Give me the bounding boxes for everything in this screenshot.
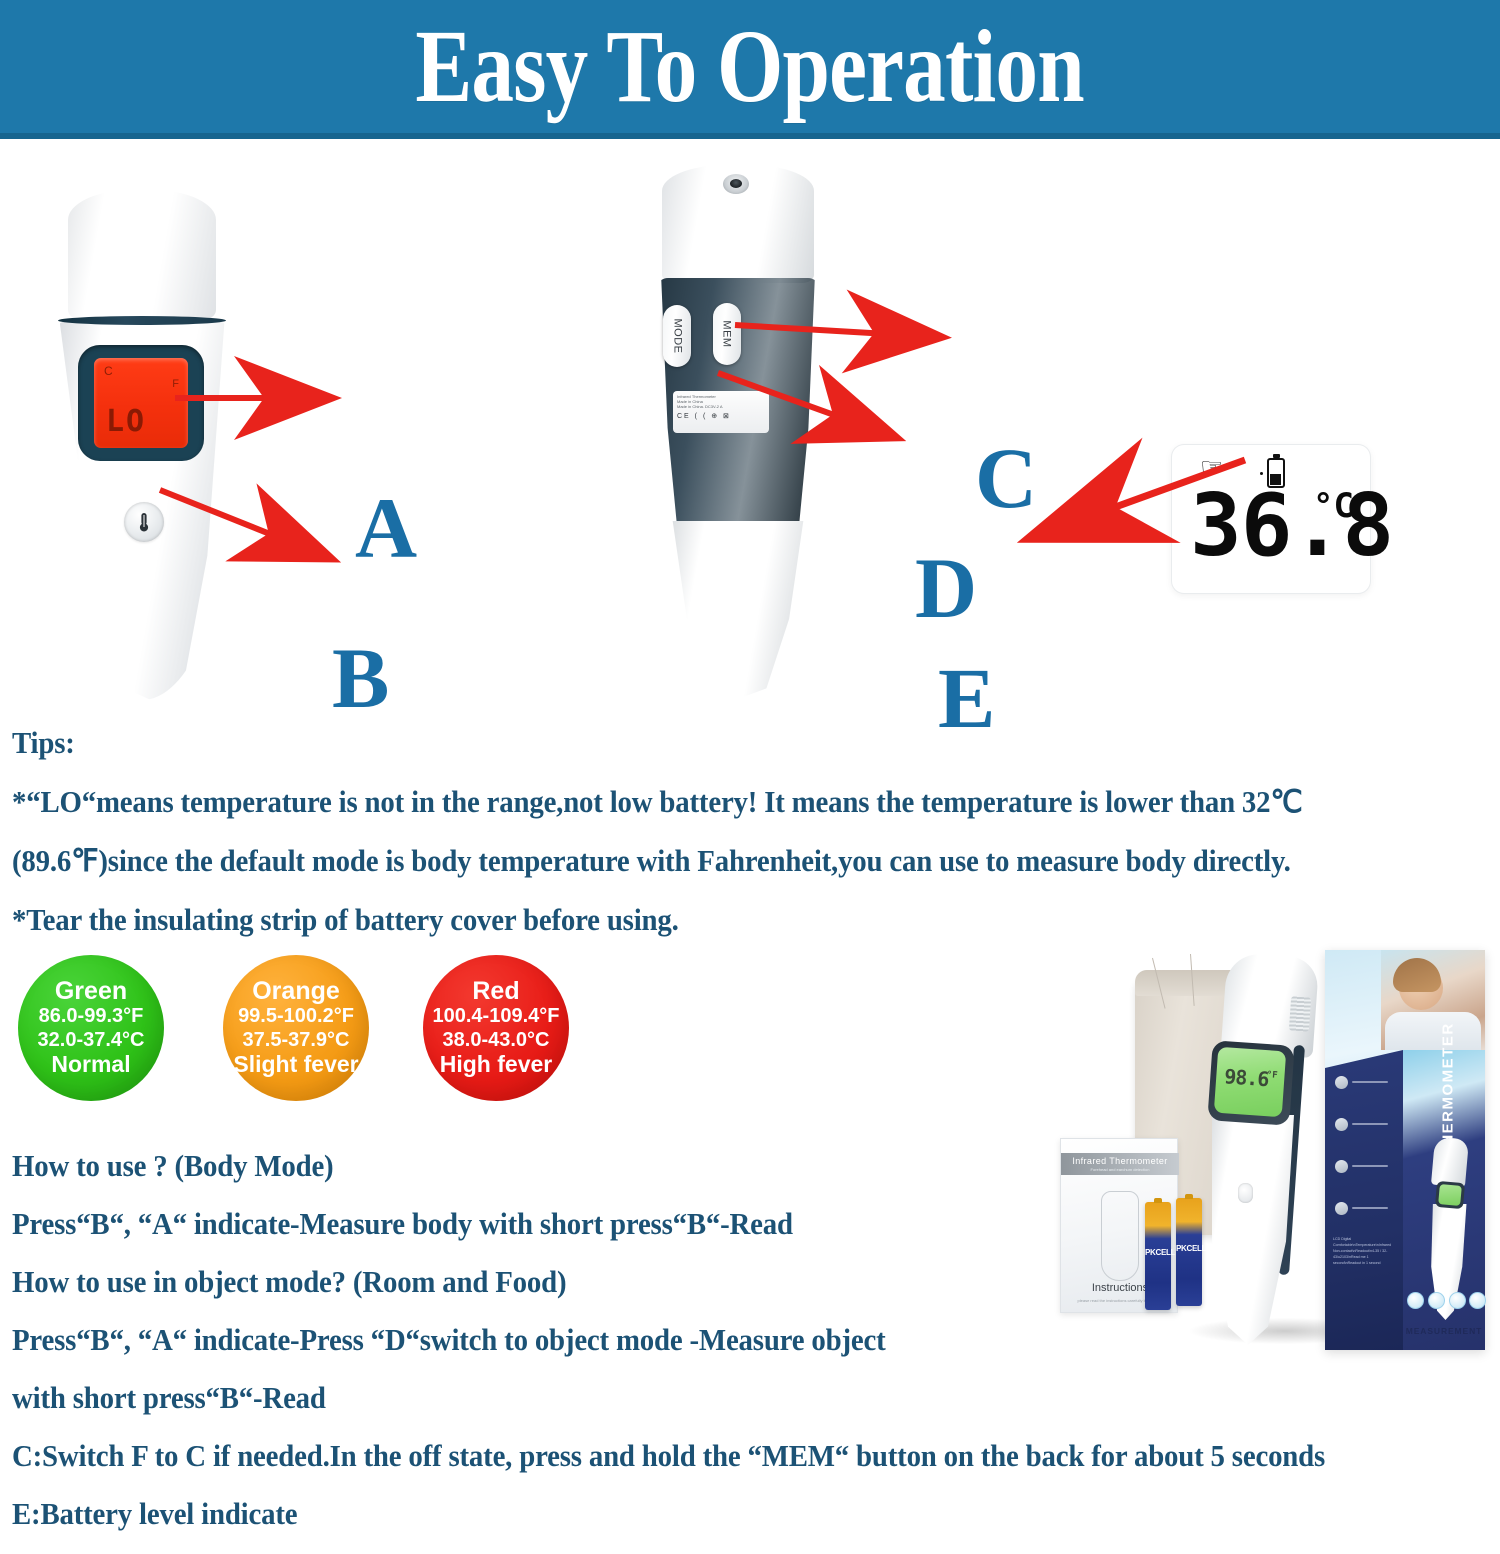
tips-heading: Tips:	[12, 725, 1388, 761]
box-side-panel: LCD Digital Comfortable\nTemperature\nIn…	[1325, 1050, 1403, 1350]
range-green-name: Green	[55, 978, 127, 1004]
range-circle-green: Green 86.0-99.3°F 32.0-37.4°C Normal	[18, 955, 164, 1101]
box-feature-dot-2	[1335, 1118, 1348, 1131]
arrow-to-d	[718, 373, 895, 437]
photo-lcd-unit: °F	[1266, 1070, 1278, 1081]
retail-box: LCD Digital Comfortable\nTemperature\nIn…	[1325, 950, 1485, 1350]
box-feature-line-3	[1352, 1165, 1388, 1167]
arrow-to-b	[160, 490, 330, 558]
range-red-celsius: 38.0-43.0°C	[443, 1028, 550, 1052]
diagram-stage: C F LO MODE MEM Infrared Thermometer Mad…	[0, 145, 1500, 720]
range-red-state: High fever	[440, 1052, 552, 1077]
box-feature-line-1	[1352, 1081, 1388, 1083]
range-circle-red: Red 100.4-109.4°F 38.0-43.0°C High fever	[423, 955, 569, 1101]
box-lifestyle-photo	[1381, 950, 1485, 1050]
box-footer-text: MEASUREMENT	[1403, 1326, 1485, 1336]
thermometer-photo-vent	[1289, 996, 1311, 1031]
range-orange-name: Orange	[252, 978, 340, 1004]
box-photo-shirt	[1385, 1012, 1481, 1050]
box-spec-text: LCD Digital Comfortable\nTemperature\nIn…	[1333, 1236, 1395, 1266]
howto-line-6: C:Switch F to C if needed.In the off sta…	[12, 1438, 1398, 1474]
arrow-to-c	[735, 325, 940, 337]
manual-product-outline-icon	[1101, 1191, 1139, 1281]
range-orange-fahrenheit: 99.5-100.2°F	[238, 1004, 354, 1028]
range-red-fahrenheit: 100.4-109.4°F	[433, 1004, 560, 1028]
range-orange-state: Slight fever	[233, 1052, 358, 1077]
howto-line-5: with short press“B“-Read	[12, 1380, 1398, 1416]
box-thermometer-lcd	[1438, 1184, 1462, 1206]
box-feature-line-4	[1352, 1207, 1388, 1209]
header-divider	[0, 133, 1500, 139]
thermometer-photo-lcd: 98.6 °F	[1214, 1047, 1286, 1118]
box-feature-line-2	[1352, 1123, 1388, 1125]
box-icon-1	[1407, 1292, 1424, 1309]
range-green-state: Normal	[51, 1052, 130, 1077]
tips-line-2: (89.6℉)since the default mode is body te…	[12, 843, 1388, 879]
temperature-range-legend: Green 86.0-99.3°F 32.0-37.4°C Normal Ora…	[18, 955, 578, 1105]
battery-1-brand: PKCELL	[1145, 1248, 1171, 1257]
tips-section: Tips: *“LO“means temperature is not in t…	[12, 725, 1492, 961]
box-thermometer-head	[1431, 1137, 1469, 1188]
thermometer-product-photo: 98.6 °F	[1200, 955, 1315, 1345]
manual-subtitle: Forehead and earchum detection	[1061, 1167, 1179, 1172]
range-orange-celsius: 37.5-37.9°C	[243, 1028, 350, 1052]
thermometer-photo-button	[1238, 1183, 1253, 1203]
callout-letter-b: B	[332, 635, 389, 721]
callout-letter-a: A	[355, 485, 417, 571]
battery-2-brand: PKCELL	[1176, 1244, 1202, 1253]
box-feature-dot-3	[1335, 1160, 1348, 1173]
tips-line-1: *“LO“means temperature is not in the ran…	[12, 784, 1388, 820]
tips-line-3: *Tear the insulating strip of battery co…	[12, 902, 1388, 938]
box-feature-dot-4	[1335, 1202, 1348, 1215]
range-circle-orange: Orange 99.5-100.2°F 37.5-37.9°C Slight f…	[223, 955, 369, 1101]
product-package-photo: Infrared Thermometer Forehead and earchu…	[1040, 940, 1500, 1360]
photo-lcd-value: 98.6	[1224, 1067, 1269, 1088]
box-photo-hair	[1393, 958, 1441, 992]
box-icon-4	[1469, 1292, 1486, 1309]
page-header: Easy To Operation	[0, 0, 1500, 133]
arrow-to-e	[1030, 460, 1245, 538]
box-icon-2	[1428, 1292, 1445, 1309]
box-icon-3	[1449, 1292, 1466, 1309]
range-green-celsius: 32.0-37.4°C	[38, 1028, 145, 1052]
box-feature-dot-1	[1335, 1076, 1348, 1089]
callout-letter-c: C	[975, 435, 1037, 521]
page-title: Easy To Operation	[416, 7, 1084, 126]
battery-1: PKCELL	[1145, 1202, 1171, 1310]
callout-letter-d: D	[915, 545, 977, 631]
battery-2: PKCELL	[1176, 1198, 1202, 1306]
box-feature-icons	[1407, 1292, 1485, 1312]
howto-line-7: E:Battery level indicate	[12, 1496, 1398, 1532]
range-green-fahrenheit: 86.0-99.3°F	[39, 1004, 144, 1028]
range-red-name: Red	[472, 978, 519, 1004]
callout-arrows	[0, 145, 1500, 720]
manual-title: Infrared Thermometer	[1061, 1156, 1179, 1166]
